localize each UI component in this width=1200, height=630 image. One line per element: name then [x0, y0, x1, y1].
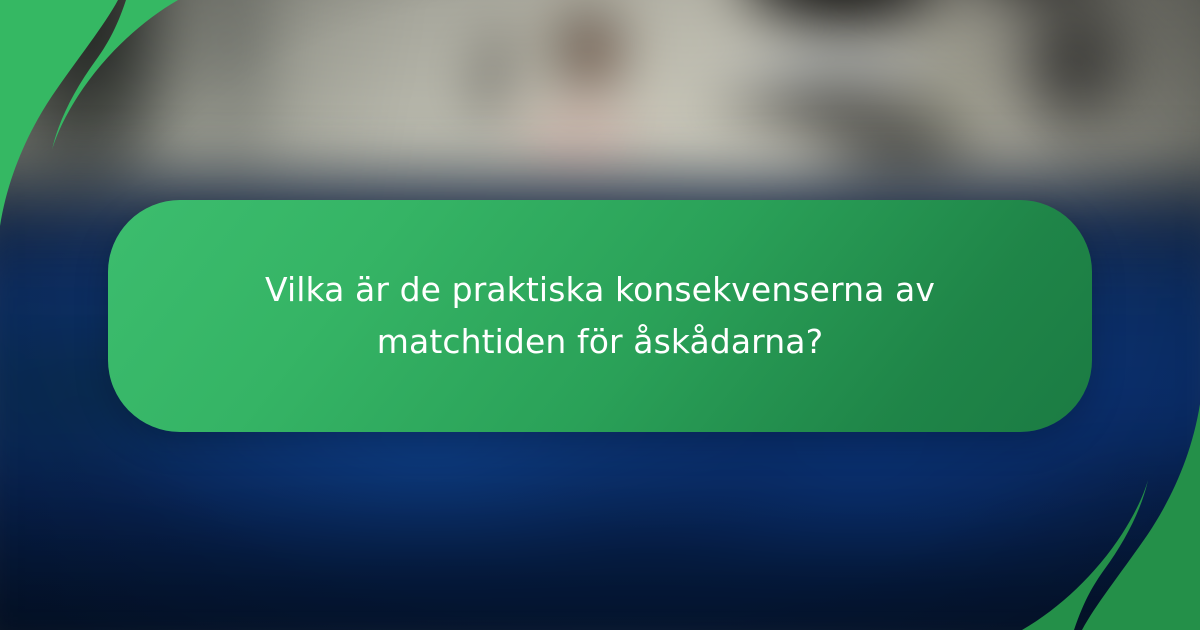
question-text: Vilka är de praktiska konsekvenserna av … [138, 264, 1062, 368]
question-card: Vilka är de praktiska konsekvenserna av … [108, 200, 1092, 432]
share-card-canvas: Vilka är de praktiska konsekvenserna av … [0, 0, 1200, 630]
